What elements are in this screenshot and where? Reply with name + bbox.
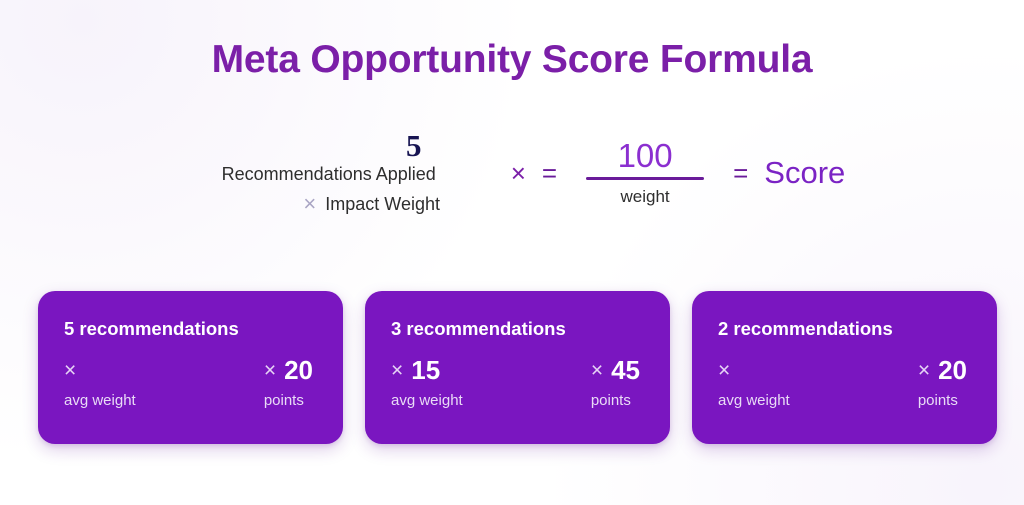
fraction: 100 weight — [579, 139, 711, 206]
card-metric-label: avg weight — [391, 393, 463, 408]
example-card: 5 recommendations × avg weight × 20 poin… — [38, 291, 343, 444]
fraction-denominator: weight — [621, 180, 670, 206]
card-title: 5 recommendations — [64, 320, 317, 339]
card-metric-label: avg weight — [718, 393, 790, 408]
example-cards: 5 recommendations × avg weight × 20 poin… — [38, 291, 997, 444]
card-metrics: × avg weight × 20 points — [64, 356, 317, 408]
card-metric-top: × 20 — [264, 356, 313, 385]
card-metric-label: points — [591, 393, 640, 408]
card-metrics: × avg weight × 20 points — [718, 356, 971, 408]
equals-operator-right: = — [733, 160, 748, 186]
card-metric-avg-weight: × 15 avg weight — [391, 356, 463, 408]
card-metric-points: × 45 points — [591, 356, 640, 408]
formula-left-term: 5 Recommendations Applied × Impact Weigh… — [179, 130, 479, 216]
recommendations-label: Recommendations Applied — [222, 163, 436, 186]
card-metric-top: × 20 — [918, 356, 967, 385]
card-metric-top: × 15 — [391, 356, 463, 385]
recommendations-count: 5 — [406, 130, 422, 161]
example-card: 2 recommendations × avg weight × 20 poin… — [692, 291, 997, 444]
impact-weight-label: Impact Weight — [325, 194, 440, 215]
card-metric-points: × 20 points — [918, 356, 967, 408]
card-metric-top: × — [64, 356, 136, 385]
card-metric-label: avg weight — [64, 393, 136, 408]
card-metric-top: × — [718, 356, 790, 385]
infographic-page: Meta Opportunity Score Formula 5 Recomme… — [0, 0, 1024, 505]
example-card: 3 recommendations × 15 avg weight × 45 p… — [365, 291, 670, 444]
formula-row: 5 Recommendations Applied × Impact Weigh… — [0, 110, 1024, 235]
multiply-icon: × — [391, 360, 403, 381]
multiply-icon: × — [591, 360, 603, 381]
impact-weight-line: × Impact Weight — [303, 193, 440, 215]
card-metric-points: × 20 points — [264, 356, 313, 408]
card-metric-value: 20 — [284, 357, 313, 383]
card-metric-label: points — [264, 393, 313, 408]
multiply-icon: × — [264, 360, 276, 381]
page-title: Meta Opportunity Score Formula — [0, 38, 1024, 82]
card-title: 2 recommendations — [718, 320, 971, 339]
card-metric-value: 45 — [611, 357, 640, 383]
card-metric-avg-weight: × avg weight — [64, 356, 136, 408]
multiply-icon: × — [64, 360, 76, 381]
fraction-numerator: 100 — [618, 139, 673, 178]
multiply-icon: × — [918, 360, 930, 381]
card-metric-top: × 45 — [591, 356, 640, 385]
card-title: 3 recommendations — [391, 320, 644, 339]
score-result-label: Score — [764, 157, 845, 188]
multiply-operator-icon: × — [511, 160, 526, 186]
card-metric-value: 20 — [938, 357, 967, 383]
card-metrics: × 15 avg weight × 45 points — [391, 356, 644, 408]
card-metric-avg-weight: × avg weight — [718, 356, 790, 408]
equals-operator-left: = — [542, 160, 557, 186]
card-metric-value: 15 — [411, 357, 440, 383]
multiply-icon: × — [718, 360, 730, 381]
card-metric-label: points — [918, 393, 967, 408]
multiply-icon: × — [303, 193, 316, 215]
